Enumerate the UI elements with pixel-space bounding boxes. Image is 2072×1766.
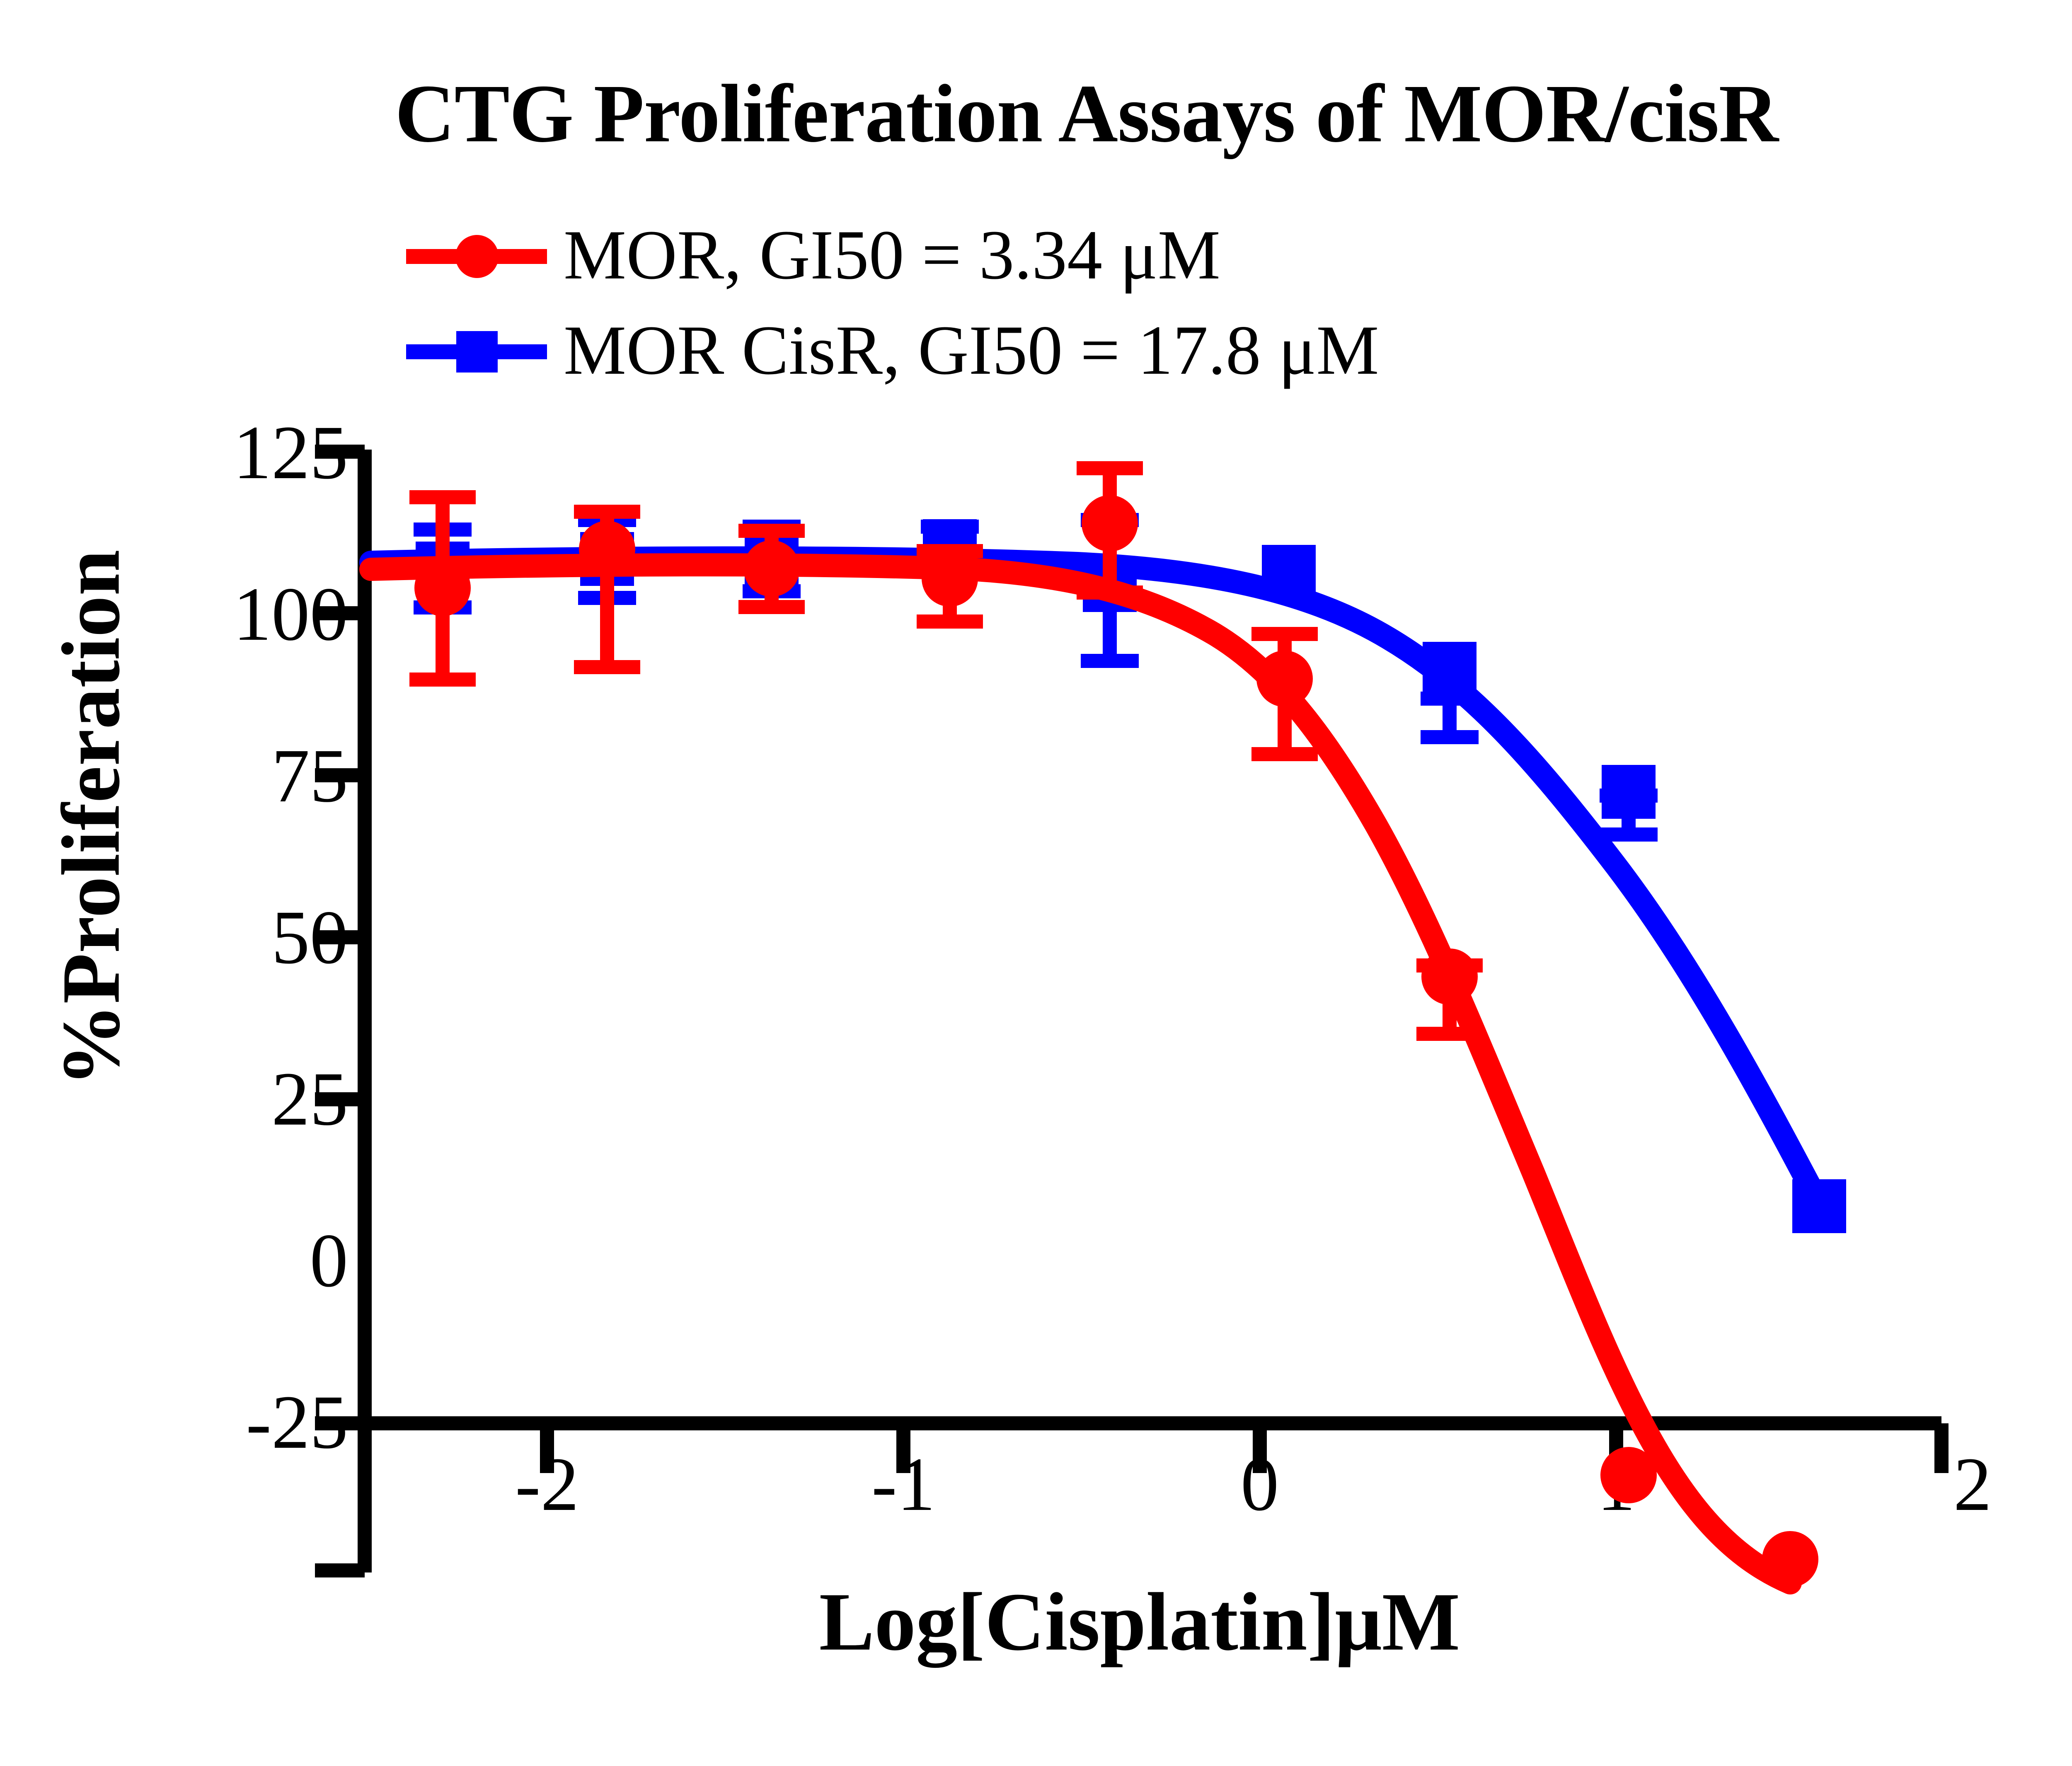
data-point (1421, 948, 1478, 1005)
data-point (1256, 651, 1313, 707)
x-axis-ticks (547, 1423, 1941, 1473)
series-mor-cisr (371, 519, 1846, 1233)
data-point (1262, 545, 1316, 599)
data-point (579, 521, 635, 577)
plot-area (0, 0, 2072, 1766)
data-point (1762, 1531, 1818, 1587)
data-point (1600, 1447, 1657, 1503)
data-point (1602, 765, 1656, 819)
data-point (1792, 1179, 1846, 1233)
y-axis-ticks (315, 452, 365, 1570)
data-point (743, 540, 800, 597)
chart-figure: CTG Proliferation Assays of MOR/cisR MOR… (0, 0, 2072, 1766)
data-point (1423, 642, 1477, 696)
data-point (1082, 495, 1138, 552)
data-point (922, 550, 978, 607)
data-point (414, 560, 471, 616)
